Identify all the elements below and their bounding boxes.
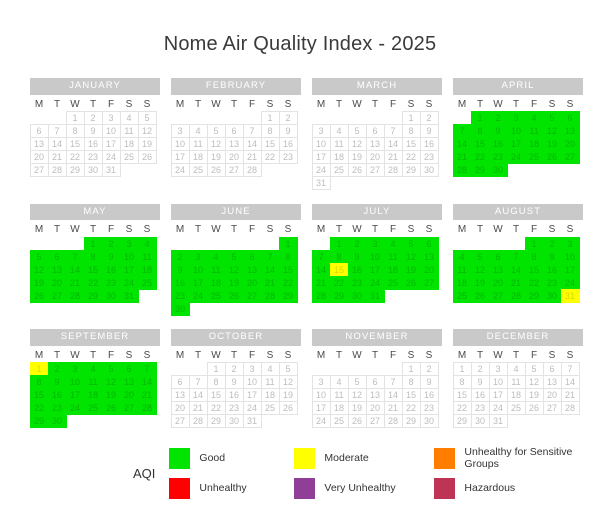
- day-cell[interactable]: 8: [402, 375, 421, 389]
- day-cell[interactable]: 25: [330, 163, 349, 177]
- day-cell[interactable]: 9: [543, 250, 562, 264]
- day-cell[interactable]: 7: [561, 362, 580, 376]
- day-cell[interactable]: 19: [402, 263, 421, 277]
- day-cell[interactable]: 26: [30, 289, 49, 303]
- day-cell[interactable]: 25: [453, 289, 472, 303]
- day-cell[interactable]: 9: [102, 250, 121, 264]
- day-cell[interactable]: 24: [489, 401, 508, 415]
- day-cell[interactable]: 4: [189, 124, 208, 138]
- day-cell[interactable]: 1: [30, 362, 49, 376]
- day-cell[interactable]: 15: [207, 388, 226, 402]
- day-cell[interactable]: 24: [102, 150, 121, 164]
- day-cell[interactable]: 20: [489, 276, 508, 290]
- day-cell[interactable]: 3: [120, 237, 139, 251]
- day-cell[interactable]: 3: [561, 237, 580, 251]
- day-cell[interactable]: 18: [261, 388, 280, 402]
- day-cell[interactable]: 7: [189, 375, 208, 389]
- day-cell[interactable]: 18: [84, 388, 103, 402]
- day-cell[interactable]: 9: [420, 375, 439, 389]
- day-cell[interactable]: 12: [225, 263, 244, 277]
- day-cell[interactable]: 5: [279, 362, 298, 376]
- day-cell[interactable]: 7: [384, 124, 403, 138]
- day-cell[interactable]: 30: [420, 414, 439, 428]
- day-cell[interactable]: 14: [384, 137, 403, 151]
- day-cell[interactable]: 26: [543, 150, 562, 164]
- day-cell[interactable]: 17: [366, 263, 385, 277]
- day-cell[interactable]: 22: [453, 401, 472, 415]
- day-cell[interactable]: 5: [138, 111, 157, 125]
- day-cell[interactable]: 3: [489, 362, 508, 376]
- day-cell[interactable]: 13: [420, 250, 439, 264]
- day-cell[interactable]: 22: [66, 150, 85, 164]
- day-cell[interactable]: 4: [207, 250, 226, 264]
- day-cell[interactable]: 17: [243, 388, 262, 402]
- day-cell[interactable]: 2: [279, 111, 298, 125]
- day-cell[interactable]: 29: [453, 414, 472, 428]
- day-cell[interactable]: 9: [279, 124, 298, 138]
- day-cell[interactable]: 12: [543, 124, 562, 138]
- day-cell[interactable]: 15: [453, 388, 472, 402]
- day-cell[interactable]: 17: [189, 276, 208, 290]
- day-cell[interactable]: 11: [120, 124, 139, 138]
- day-cell[interactable]: 10: [489, 375, 508, 389]
- day-cell[interactable]: 15: [66, 137, 85, 151]
- day-cell[interactable]: 30: [225, 414, 244, 428]
- day-cell[interactable]: 13: [30, 137, 49, 151]
- day-cell[interactable]: 25: [120, 150, 139, 164]
- day-cell[interactable]: 13: [120, 375, 139, 389]
- day-cell[interactable]: 6: [366, 375, 385, 389]
- day-cell[interactable]: 28: [261, 289, 280, 303]
- day-cell[interactable]: 5: [471, 250, 490, 264]
- day-cell[interactable]: 23: [225, 401, 244, 415]
- day-cell[interactable]: 18: [207, 276, 226, 290]
- day-cell[interactable]: 30: [420, 163, 439, 177]
- day-cell[interactable]: 10: [243, 375, 262, 389]
- day-cell[interactable]: 31: [489, 414, 508, 428]
- day-cell[interactable]: 25: [330, 414, 349, 428]
- day-cell[interactable]: 20: [243, 276, 262, 290]
- day-cell[interactable]: 14: [384, 388, 403, 402]
- day-cell[interactable]: 27: [243, 289, 262, 303]
- day-cell[interactable]: 29: [402, 414, 421, 428]
- legend-item[interactable]: Hazardous: [434, 478, 600, 499]
- day-cell[interactable]: 23: [348, 276, 367, 290]
- day-cell[interactable]: 29: [84, 289, 103, 303]
- day-cell[interactable]: 8: [279, 250, 298, 264]
- day-cell[interactable]: 6: [489, 250, 508, 264]
- day-cell[interactable]: 24: [171, 163, 190, 177]
- day-cell[interactable]: 29: [279, 289, 298, 303]
- day-cell[interactable]: 23: [543, 276, 562, 290]
- day-cell[interactable]: 10: [171, 137, 190, 151]
- day-cell[interactable]: 25: [189, 163, 208, 177]
- day-cell[interactable]: 9: [420, 124, 439, 138]
- day-cell[interactable]: 10: [366, 250, 385, 264]
- day-cell[interactable]: 16: [279, 137, 298, 151]
- day-cell[interactable]: 13: [171, 388, 190, 402]
- day-cell[interactable]: 4: [120, 111, 139, 125]
- day-cell[interactable]: 4: [330, 375, 349, 389]
- day-cell[interactable]: 7: [138, 362, 157, 376]
- day-cell[interactable]: 24: [507, 150, 526, 164]
- day-cell[interactable]: 12: [348, 388, 367, 402]
- day-cell[interactable]: 8: [84, 250, 103, 264]
- day-cell[interactable]: 23: [420, 150, 439, 164]
- day-cell[interactable]: 18: [189, 150, 208, 164]
- day-cell[interactable]: 17: [171, 150, 190, 164]
- day-cell[interactable]: 21: [384, 401, 403, 415]
- day-cell[interactable]: 20: [30, 150, 49, 164]
- day-cell[interactable]: 23: [279, 150, 298, 164]
- day-cell[interactable]: 28: [384, 163, 403, 177]
- day-cell[interactable]: 23: [84, 150, 103, 164]
- day-cell[interactable]: 20: [543, 388, 562, 402]
- day-cell[interactable]: 16: [471, 388, 490, 402]
- day-cell[interactable]: 24: [312, 163, 331, 177]
- day-cell[interactable]: 18: [138, 263, 157, 277]
- day-cell[interactable]: 2: [171, 250, 190, 264]
- day-cell[interactable]: 15: [402, 388, 421, 402]
- day-cell[interactable]: 9: [225, 375, 244, 389]
- day-cell[interactable]: 5: [102, 362, 121, 376]
- day-cell[interactable]: 8: [261, 124, 280, 138]
- day-cell[interactable]: 24: [66, 401, 85, 415]
- day-cell[interactable]: 10: [561, 250, 580, 264]
- day-cell[interactable]: 15: [30, 388, 49, 402]
- day-cell[interactable]: 7: [261, 250, 280, 264]
- day-cell[interactable]: 2: [489, 111, 508, 125]
- day-cell[interactable]: 9: [48, 375, 67, 389]
- day-cell[interactable]: 6: [420, 237, 439, 251]
- day-cell[interactable]: 8: [330, 250, 349, 264]
- day-cell[interactable]: 20: [561, 137, 580, 151]
- day-cell[interactable]: 13: [48, 263, 67, 277]
- day-cell[interactable]: 1: [525, 237, 544, 251]
- day-cell[interactable]: 8: [30, 375, 49, 389]
- day-cell[interactable]: 23: [171, 289, 190, 303]
- day-cell[interactable]: 19: [543, 137, 562, 151]
- day-cell[interactable]: 6: [561, 111, 580, 125]
- legend-item[interactable]: Moderate: [294, 448, 434, 469]
- day-cell[interactable]: 16: [420, 388, 439, 402]
- day-cell[interactable]: 30: [543, 289, 562, 303]
- day-cell[interactable]: 1: [84, 237, 103, 251]
- day-cell[interactable]: 19: [30, 276, 49, 290]
- day-cell[interactable]: 20: [120, 388, 139, 402]
- day-cell[interactable]: 19: [471, 276, 490, 290]
- day-cell[interactable]: 21: [243, 150, 262, 164]
- day-cell[interactable]: 2: [225, 362, 244, 376]
- day-cell[interactable]: 23: [48, 401, 67, 415]
- legend-item[interactable]: Unhealthy for Sensitive Groups: [434, 446, 600, 470]
- day-cell[interactable]: 14: [243, 137, 262, 151]
- day-cell[interactable]: 9: [84, 124, 103, 138]
- day-cell[interactable]: 30: [48, 414, 67, 428]
- day-cell[interactable]: 3: [312, 124, 331, 138]
- day-cell[interactable]: 19: [225, 276, 244, 290]
- day-cell[interactable]: 16: [225, 388, 244, 402]
- day-cell[interactable]: 23: [489, 150, 508, 164]
- day-cell[interactable]: 25: [507, 401, 526, 415]
- day-cell[interactable]: 2: [471, 362, 490, 376]
- day-cell[interactable]: 19: [207, 150, 226, 164]
- day-cell[interactable]: 30: [348, 289, 367, 303]
- day-cell[interactable]: 19: [525, 388, 544, 402]
- day-cell[interactable]: 27: [366, 163, 385, 177]
- day-cell[interactable]: 24: [366, 276, 385, 290]
- day-cell[interactable]: 30: [489, 163, 508, 177]
- day-cell[interactable]: 22: [330, 276, 349, 290]
- day-cell[interactable]: 27: [225, 163, 244, 177]
- day-cell[interactable]: 13: [243, 263, 262, 277]
- day-cell[interactable]: 11: [138, 250, 157, 264]
- day-cell[interactable]: 14: [561, 375, 580, 389]
- day-cell[interactable]: 17: [312, 150, 331, 164]
- day-cell[interactable]: 12: [402, 250, 421, 264]
- day-cell[interactable]: 29: [207, 414, 226, 428]
- day-cell[interactable]: 7: [312, 250, 331, 264]
- day-cell[interactable]: 12: [525, 375, 544, 389]
- day-cell[interactable]: 11: [453, 263, 472, 277]
- day-cell[interactable]: 23: [471, 401, 490, 415]
- day-cell[interactable]: 29: [66, 163, 85, 177]
- day-cell[interactable]: 21: [261, 276, 280, 290]
- day-cell[interactable]: 10: [507, 124, 526, 138]
- day-cell[interactable]: 5: [402, 237, 421, 251]
- day-cell[interactable]: 6: [225, 124, 244, 138]
- day-cell[interactable]: 1: [402, 111, 421, 125]
- day-cell[interactable]: 22: [402, 150, 421, 164]
- day-cell[interactable]: 13: [366, 137, 385, 151]
- day-cell[interactable]: 21: [66, 276, 85, 290]
- day-cell[interactable]: 22: [207, 401, 226, 415]
- day-cell[interactable]: 7: [453, 124, 472, 138]
- day-cell[interactable]: 11: [261, 375, 280, 389]
- day-cell[interactable]: 30: [471, 414, 490, 428]
- day-cell[interactable]: 10: [66, 375, 85, 389]
- day-cell[interactable]: 4: [525, 111, 544, 125]
- day-cell[interactable]: 14: [453, 137, 472, 151]
- day-cell[interactable]: 28: [507, 289, 526, 303]
- day-cell[interactable]: 5: [543, 111, 562, 125]
- day-cell[interactable]: 4: [261, 362, 280, 376]
- day-cell[interactable]: 16: [48, 388, 67, 402]
- day-cell[interactable]: 27: [171, 414, 190, 428]
- day-cell[interactable]: 13: [561, 124, 580, 138]
- day-cell[interactable]: 16: [84, 137, 103, 151]
- day-cell[interactable]: 25: [261, 401, 280, 415]
- day-cell[interactable]: 26: [402, 276, 421, 290]
- day-cell[interactable]: 10: [312, 388, 331, 402]
- day-cell[interactable]: 3: [366, 237, 385, 251]
- day-cell[interactable]: 28: [138, 401, 157, 415]
- day-cell[interactable]: 1: [471, 111, 490, 125]
- day-cell[interactable]: 26: [525, 401, 544, 415]
- day-cell[interactable]: 13: [366, 388, 385, 402]
- day-cell[interactable]: 1: [402, 362, 421, 376]
- legend-item[interactable]: Good: [169, 448, 294, 469]
- day-cell[interactable]: 31: [102, 163, 121, 177]
- day-cell[interactable]: 25: [525, 150, 544, 164]
- day-cell[interactable]: 12: [471, 263, 490, 277]
- day-cell[interactable]: 2: [420, 362, 439, 376]
- day-cell[interactable]: 28: [561, 401, 580, 415]
- day-cell[interactable]: 11: [189, 137, 208, 151]
- day-cell[interactable]: 3: [66, 362, 85, 376]
- day-cell[interactable]: 8: [207, 375, 226, 389]
- day-cell[interactable]: 12: [102, 375, 121, 389]
- day-cell[interactable]: 29: [330, 289, 349, 303]
- day-cell[interactable]: 31: [243, 414, 262, 428]
- day-cell[interactable]: 11: [507, 375, 526, 389]
- day-cell[interactable]: 12: [207, 137, 226, 151]
- day-cell[interactable]: 12: [138, 124, 157, 138]
- day-cell[interactable]: 24: [561, 276, 580, 290]
- day-cell[interactable]: 31: [312, 176, 331, 190]
- day-cell[interactable]: 8: [525, 250, 544, 264]
- day-cell[interactable]: 27: [489, 289, 508, 303]
- day-cell[interactable]: 2: [84, 111, 103, 125]
- day-cell[interactable]: 15: [471, 137, 490, 151]
- day-cell[interactable]: 7: [66, 250, 85, 264]
- day-cell[interactable]: 14: [48, 137, 67, 151]
- day-cell[interactable]: 3: [189, 250, 208, 264]
- day-cell[interactable]: 16: [420, 137, 439, 151]
- day-cell[interactable]: 4: [507, 362, 526, 376]
- day-cell[interactable]: 20: [225, 150, 244, 164]
- day-cell[interactable]: 19: [348, 150, 367, 164]
- day-cell[interactable]: 22: [30, 401, 49, 415]
- day-cell[interactable]: 6: [171, 375, 190, 389]
- day-cell[interactable]: 16: [171, 276, 190, 290]
- day-cell[interactable]: 28: [312, 289, 331, 303]
- day-cell[interactable]: 27: [561, 150, 580, 164]
- day-cell[interactable]: 11: [330, 137, 349, 151]
- day-cell[interactable]: 2: [102, 237, 121, 251]
- day-cell[interactable]: 1: [261, 111, 280, 125]
- day-cell[interactable]: 10: [312, 137, 331, 151]
- day-cell[interactable]: 24: [189, 289, 208, 303]
- day-cell[interactable]: 26: [207, 163, 226, 177]
- day-cell[interactable]: 18: [507, 388, 526, 402]
- day-cell[interactable]: 15: [84, 263, 103, 277]
- day-cell[interactable]: 30: [171, 302, 190, 316]
- day-cell[interactable]: 29: [402, 163, 421, 177]
- day-cell[interactable]: 1: [453, 362, 472, 376]
- day-cell[interactable]: 20: [366, 401, 385, 415]
- day-cell[interactable]: 26: [348, 414, 367, 428]
- day-cell[interactable]: 17: [489, 388, 508, 402]
- day-cell[interactable]: 6: [243, 250, 262, 264]
- day-cell[interactable]: 29: [30, 414, 49, 428]
- day-cell[interactable]: 19: [102, 388, 121, 402]
- day-cell[interactable]: 11: [384, 250, 403, 264]
- legend-item[interactable]: Unhealthy: [169, 478, 294, 499]
- day-cell[interactable]: 20: [366, 150, 385, 164]
- day-cell[interactable]: 21: [561, 388, 580, 402]
- day-cell[interactable]: 16: [489, 137, 508, 151]
- day-cell[interactable]: 2: [348, 237, 367, 251]
- day-cell[interactable]: 18: [330, 150, 349, 164]
- day-cell[interactable]: 3: [171, 124, 190, 138]
- day-cell[interactable]: 14: [507, 263, 526, 277]
- day-cell[interactable]: 10: [189, 263, 208, 277]
- day-cell[interactable]: 11: [330, 388, 349, 402]
- day-cell[interactable]: 20: [171, 401, 190, 415]
- day-cell[interactable]: 27: [420, 276, 439, 290]
- day-cell[interactable]: 18: [525, 137, 544, 151]
- day-cell[interactable]: 16: [102, 263, 121, 277]
- day-cell[interactable]: 1: [330, 237, 349, 251]
- day-cell[interactable]: 15: [402, 137, 421, 151]
- day-cell[interactable]: 13: [489, 263, 508, 277]
- day-cell[interactable]: 30: [102, 289, 121, 303]
- day-cell[interactable]: 3: [243, 362, 262, 376]
- day-cell[interactable]: 22: [471, 150, 490, 164]
- day-cell[interactable]: 5: [525, 362, 544, 376]
- day-cell[interactable]: 6: [366, 124, 385, 138]
- day-cell[interactable]: 4: [384, 237, 403, 251]
- day-cell[interactable]: 14: [261, 263, 280, 277]
- day-cell[interactable]: 15: [279, 263, 298, 277]
- day-cell[interactable]: 11: [525, 124, 544, 138]
- day-cell[interactable]: 8: [471, 124, 490, 138]
- day-cell[interactable]: 24: [243, 401, 262, 415]
- day-cell[interactable]: 3: [102, 111, 121, 125]
- day-cell[interactable]: 21: [507, 276, 526, 290]
- day-cell[interactable]: 9: [471, 375, 490, 389]
- day-cell[interactable]: 11: [207, 263, 226, 277]
- day-cell[interactable]: 2: [420, 111, 439, 125]
- day-cell[interactable]: 21: [48, 150, 67, 164]
- day-cell[interactable]: 28: [453, 163, 472, 177]
- day-cell[interactable]: 14: [312, 263, 331, 277]
- day-cell[interactable]: 17: [102, 137, 121, 151]
- day-cell[interactable]: 4: [84, 362, 103, 376]
- day-cell[interactable]: 19: [279, 388, 298, 402]
- day-cell[interactable]: 4: [453, 250, 472, 264]
- day-cell[interactable]: 18: [453, 276, 472, 290]
- day-cell[interactable]: 22: [525, 276, 544, 290]
- day-cell[interactable]: 14: [189, 388, 208, 402]
- day-cell[interactable]: 5: [30, 250, 49, 264]
- day-cell[interactable]: 17: [312, 401, 331, 415]
- day-cell[interactable]: 13: [225, 137, 244, 151]
- day-cell[interactable]: 22: [279, 276, 298, 290]
- day-cell[interactable]: 25: [384, 276, 403, 290]
- day-cell[interactable]: 22: [84, 276, 103, 290]
- day-cell[interactable]: 28: [384, 414, 403, 428]
- day-cell[interactable]: 26: [225, 289, 244, 303]
- day-cell[interactable]: 21: [189, 401, 208, 415]
- day-cell[interactable]: 17: [561, 263, 580, 277]
- day-cell[interactable]: 19: [138, 137, 157, 151]
- day-cell[interactable]: 25: [207, 289, 226, 303]
- day-cell[interactable]: 4: [138, 237, 157, 251]
- day-cell[interactable]: 15: [525, 263, 544, 277]
- day-cell[interactable]: 25: [84, 401, 103, 415]
- day-cell[interactable]: 14: [66, 263, 85, 277]
- day-cell[interactable]: 30: [84, 163, 103, 177]
- day-cell[interactable]: 25: [138, 276, 157, 290]
- day-cell[interactable]: 6: [48, 250, 67, 264]
- day-cell[interactable]: 5: [207, 124, 226, 138]
- day-cell[interactable]: 9: [348, 250, 367, 264]
- day-cell[interactable]: 17: [507, 137, 526, 151]
- day-cell[interactable]: 17: [120, 263, 139, 277]
- day-cell[interactable]: 28: [243, 163, 262, 177]
